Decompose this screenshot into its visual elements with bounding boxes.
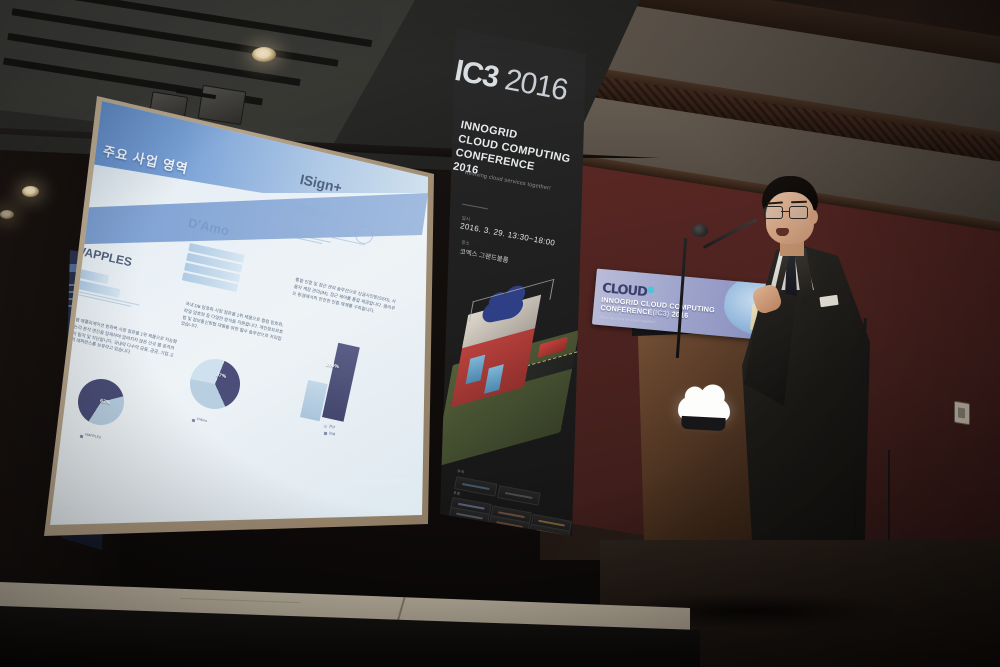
vendor-logo-sub: SECURITY bbox=[373, 478, 410, 486]
stage-panel-seam bbox=[180, 598, 300, 603]
projection-screen[interactable]: IC3 2016 INNOGRID CLOUD COMPUTING CONFER… bbox=[50, 101, 428, 529]
chart-bar-current bbox=[322, 343, 360, 422]
legend-swatch bbox=[192, 419, 196, 423]
ceiling-downlight bbox=[22, 186, 39, 197]
chart-pie-damo-legend: D'Amo bbox=[197, 417, 208, 423]
slide-column-2-graphic bbox=[181, 243, 258, 297]
ceiling-slat bbox=[11, 8, 338, 67]
chart-bar-legend-prev: 전년 bbox=[329, 423, 336, 429]
chart-pie-wapples-legend: WAPPLES bbox=[85, 432, 102, 439]
vendor-logo: PentaSECURITY bbox=[354, 478, 410, 486]
presentation-slide: IC3 2016 INNOGRID CLOUD COMPUTING CONFER… bbox=[50, 101, 428, 529]
legend-swatch bbox=[80, 435, 84, 439]
sponsor-heading-host: 주최 bbox=[457, 469, 465, 475]
vendor-logo-name: Penta bbox=[354, 479, 373, 486]
cloud-logo-dot-icon bbox=[647, 286, 655, 294]
slide-column-2-body: 국내 DB 암호화 시장 점유율 1위 제품으로 컬럼 암호화, 파일 암호화 … bbox=[180, 301, 287, 350]
conference-photo: IC3 2016 INNOGRID CLOUD COMPUTING CONFER… bbox=[0, 0, 1000, 667]
rollup-banner-divider bbox=[462, 204, 488, 210]
sponsor-logo-cell bbox=[497, 485, 541, 505]
light-switch[interactable] bbox=[954, 401, 970, 426]
chart-pie-damo bbox=[185, 354, 245, 414]
rollup-banner-place: 장소 코엑스 그랜드볼룸 bbox=[459, 240, 511, 265]
ceiling-downlight bbox=[252, 47, 276, 62]
ceiling-speaker bbox=[198, 85, 247, 125]
speaker-ear bbox=[809, 210, 818, 224]
slide-column-1-graphic bbox=[74, 269, 154, 313]
chart-bar-legend-current: 당해 bbox=[329, 430, 336, 436]
rollup-logo-year: 2016 bbox=[502, 63, 570, 107]
sponsor-logo-cell bbox=[454, 476, 498, 496]
slide-footer-note: WAPPLES | IC3 bbox=[64, 505, 98, 511]
rollup-banner-logo: IC3 2016 bbox=[452, 54, 570, 108]
slide-column-3-body: 통합 인증 및 접근 관리 솔루션으로 싱글사인온(SSO), 사용자 계정 관… bbox=[292, 277, 398, 319]
ceiling-downlight bbox=[0, 210, 14, 219]
glasses-icon bbox=[764, 206, 810, 218]
slide-column-1-body: 웹 애플리케이션 방화벽 시장 점유율 1위 제품으로 지능형 논리 분석 엔진… bbox=[70, 317, 177, 366]
microphone-icon[interactable] bbox=[692, 224, 708, 237]
rollup-logo-ic3: IC3 bbox=[452, 54, 501, 94]
podium-sign-title-ic3: (IC3) bbox=[652, 308, 670, 319]
cloud-sculpture-icon bbox=[677, 393, 731, 432]
legend-swatch bbox=[324, 432, 328, 436]
rollup-banner: IC3 2016 INNOGRID CLOUD COMPUTING CONFER… bbox=[440, 28, 586, 536]
legend-swatch bbox=[324, 425, 328, 429]
